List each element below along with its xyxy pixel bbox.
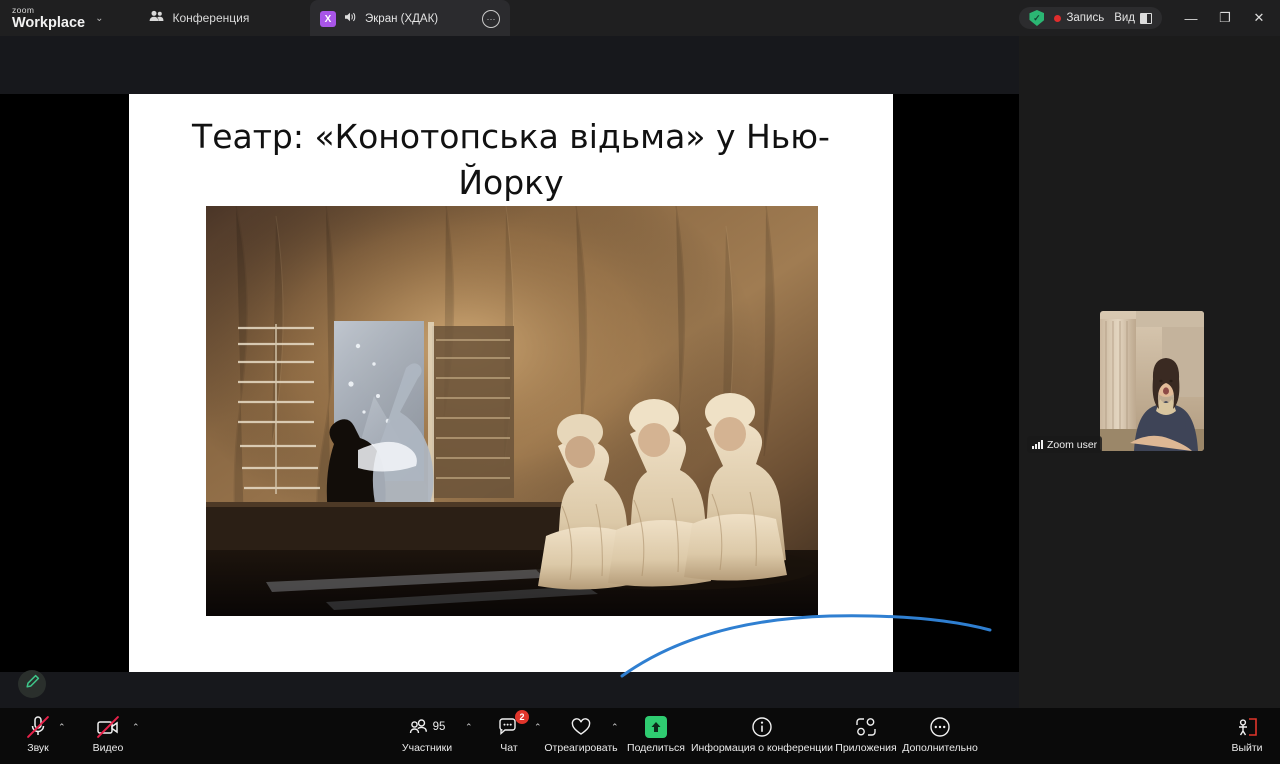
audio-options-caret[interactable]: ⌃: [58, 722, 66, 733]
theatre-stage-photo: [206, 206, 818, 616]
meeting-status-group: Запись Вид: [1019, 7, 1162, 29]
tab-screen-share[interactable]: X Экран (ХДАК) ···: [310, 0, 510, 38]
presentation-slide: Театр: «Конотопська відьма» у Нью-Йорку: [129, 94, 893, 672]
video-label: Видео: [93, 742, 124, 754]
shared-screen-viewport[interactable]: Театр: «Конотопська відьма» у Нью-Йорку: [0, 36, 1019, 708]
signal-bars-icon: [1032, 440, 1043, 449]
leave-door-icon: [1235, 714, 1259, 740]
chat-options-caret[interactable]: ⌃: [534, 722, 542, 733]
recording-dot-icon: [1054, 15, 1061, 22]
chat-unread-badge: 2: [515, 710, 529, 724]
maximize-button[interactable]: ❐: [1206, 0, 1244, 36]
more-options-label: Дополнительно: [902, 742, 978, 754]
apps-icon: [855, 714, 877, 740]
participant-name-chip: Zoom user: [1027, 436, 1102, 453]
shield-check-icon[interactable]: [1029, 10, 1044, 26]
leave-label: Выйти: [1231, 742, 1262, 754]
brand-zoom-text: zoom: [12, 6, 85, 15]
microphone-muted-icon: [28, 714, 48, 740]
apps-label: Приложения: [835, 742, 896, 754]
people-icon: [149, 9, 164, 27]
participants-options-caret[interactable]: ⌃: [465, 722, 473, 733]
share-label: Поделиться: [627, 742, 685, 754]
layout-view-icon: [1140, 13, 1152, 24]
recording-indicator[interactable]: Запись: [1054, 12, 1104, 24]
participants-label: Участники: [402, 742, 452, 754]
chat-bubble-icon: 2: [498, 714, 520, 740]
react-label: Отреагировать: [544, 742, 617, 754]
tab-more-options-icon[interactable]: ···: [482, 10, 500, 28]
tab-screen-share-label: Экран (ХДАК): [365, 13, 438, 25]
participant-name-label: Zoom user: [1047, 439, 1097, 451]
pencil-annotate-icon: [25, 674, 40, 694]
video-options-caret[interactable]: ⌃: [132, 722, 140, 733]
people-icon: 95: [409, 714, 446, 740]
tab-conference[interactable]: Конференция: [139, 0, 259, 36]
zoom-meeting-window: zoom Workplace ⌄ Конференция X Экран (ХД…: [0, 0, 1280, 764]
meeting-info-label: Информация о конференции: [691, 742, 833, 754]
participant-video-tile[interactable]: [1100, 311, 1204, 451]
audio-label: Звук: [27, 742, 49, 754]
share-up-arrow-icon: [645, 714, 667, 740]
brand-workplace-text: Workplace: [12, 16, 85, 31]
minimize-button[interactable]: —: [1172, 0, 1210, 36]
tab-conference-label: Конференция: [172, 11, 249, 25]
slide-title: Театр: «Конотопська відьма» у Нью-Йорку: [159, 114, 863, 205]
view-button[interactable]: Вид: [1114, 12, 1152, 24]
camera-muted-icon: [96, 714, 120, 740]
participants-count: 95: [433, 721, 446, 733]
chat-label: Чат: [500, 742, 517, 754]
close-button[interactable]: ✕: [1240, 0, 1278, 36]
app-badge-icon: X: [320, 11, 336, 27]
title-bar: zoom Workplace ⌄ Конференция X Экран (ХД…: [0, 0, 1280, 36]
recording-label: Запись: [1066, 12, 1104, 24]
chevron-down-icon[interactable]: ⌄: [95, 13, 103, 24]
info-circle-icon: [751, 714, 773, 740]
heart-icon: [570, 714, 592, 740]
react-options-caret[interactable]: ⌃: [611, 722, 619, 733]
zoom-workplace-brand[interactable]: zoom Workplace: [12, 6, 85, 30]
meeting-toolbar: Звук ⌃ Видео ⌃ 95 Участники ⌃ 2 Чат: [0, 708, 1280, 764]
speaker-icon: [344, 10, 357, 28]
ellipsis-circle-icon: [929, 714, 951, 740]
view-label: Вид: [1114, 12, 1135, 24]
annotate-button[interactable]: [18, 670, 46, 698]
